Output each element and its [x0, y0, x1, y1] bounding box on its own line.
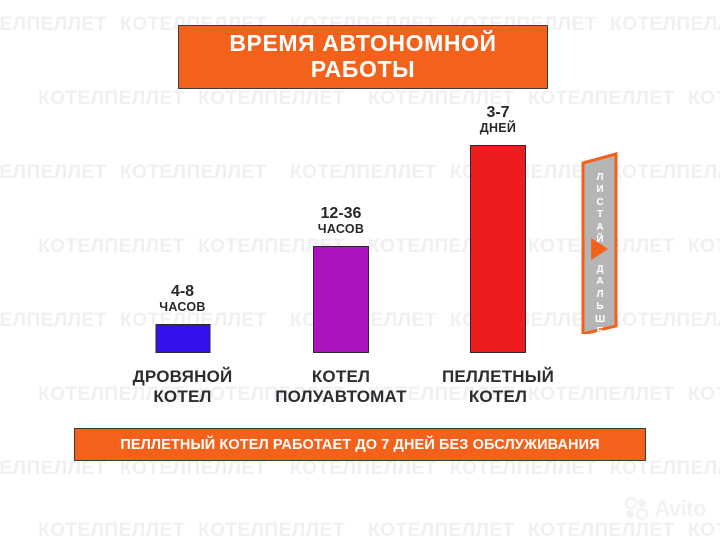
ribbon-letter: Ш: [580, 314, 620, 326]
footer-banner: ПЕЛЛЕТНЫЙ КОТЕЛ РАБОТАЕТ ДО 7 ДНЕЙ БЕЗ О…: [74, 428, 646, 461]
ribbon-word-bottom: ДАЛЬШЕ: [580, 264, 620, 338]
infographic-canvas: КОТЕЛПЕЛЛЕТКОТЕЛПЕЛЛЕТКОТЕЛПЕЛЛЕТКОТЕЛПЕ…: [0, 0, 720, 540]
avito-watermark: Avito: [624, 496, 706, 522]
page-title: ВРЕМЯ АВТОНОМНОЙ РАБОТЫ: [229, 31, 496, 83]
ribbon-letter: Ь: [580, 301, 620, 313]
bar-value-number: 12-36: [318, 206, 364, 223]
play-triangle-icon: [591, 238, 608, 260]
bar-value-unit: ЧАСОВ: [159, 301, 205, 314]
bar-value-label: 12-36ЧАСОВ: [318, 206, 364, 236]
swipe-next-ribbon[interactable]: ЛИСТАЙ ДАЛЬШЕ: [580, 152, 620, 334]
footer-claim-text: ПЕЛЛЕТНЫЙ КОТЕЛ РАБОТАЕТ ДО 7 ДНЕЙ БЕЗ О…: [120, 437, 599, 453]
bar-value-label: 3-7ДНЕЙ: [480, 105, 516, 135]
avito-wordmark: Avito: [654, 496, 706, 522]
title-banner: ВРЕМЯ АВТОНОМНОЙ РАБОТЫ: [178, 25, 548, 89]
bar-category-label: ПЕЛЛЕТНЫЙ КОТЕЛ: [403, 367, 593, 407]
ribbon-letter: Л: [580, 172, 620, 184]
bar-value-unit: ЧАСОВ: [318, 223, 364, 236]
ribbon-letter: С: [580, 197, 620, 209]
ribbon-letter: А: [580, 222, 620, 234]
bar-rect: [313, 246, 369, 353]
bar-value-number: 3-7: [480, 105, 516, 122]
ribbon-word-top: ЛИСТАЙ: [580, 172, 620, 246]
bar-value-number: 4-8: [159, 284, 205, 301]
bar-rect: [155, 324, 210, 353]
ribbon-letter: А: [580, 276, 620, 288]
bar-value-unit: ДНЕЙ: [480, 122, 516, 135]
avito-logo-icon: [624, 497, 650, 521]
bar-rect: [470, 145, 526, 353]
ribbon-letter: Д: [580, 264, 620, 276]
ribbon-letter: Е: [580, 326, 620, 338]
bar-value-label: 4-8ЧАСОВ: [159, 284, 205, 314]
ribbon-letter: Л: [580, 289, 620, 301]
ribbon-letter: И: [580, 184, 620, 196]
ribbon-letter: Т: [580, 209, 620, 221]
